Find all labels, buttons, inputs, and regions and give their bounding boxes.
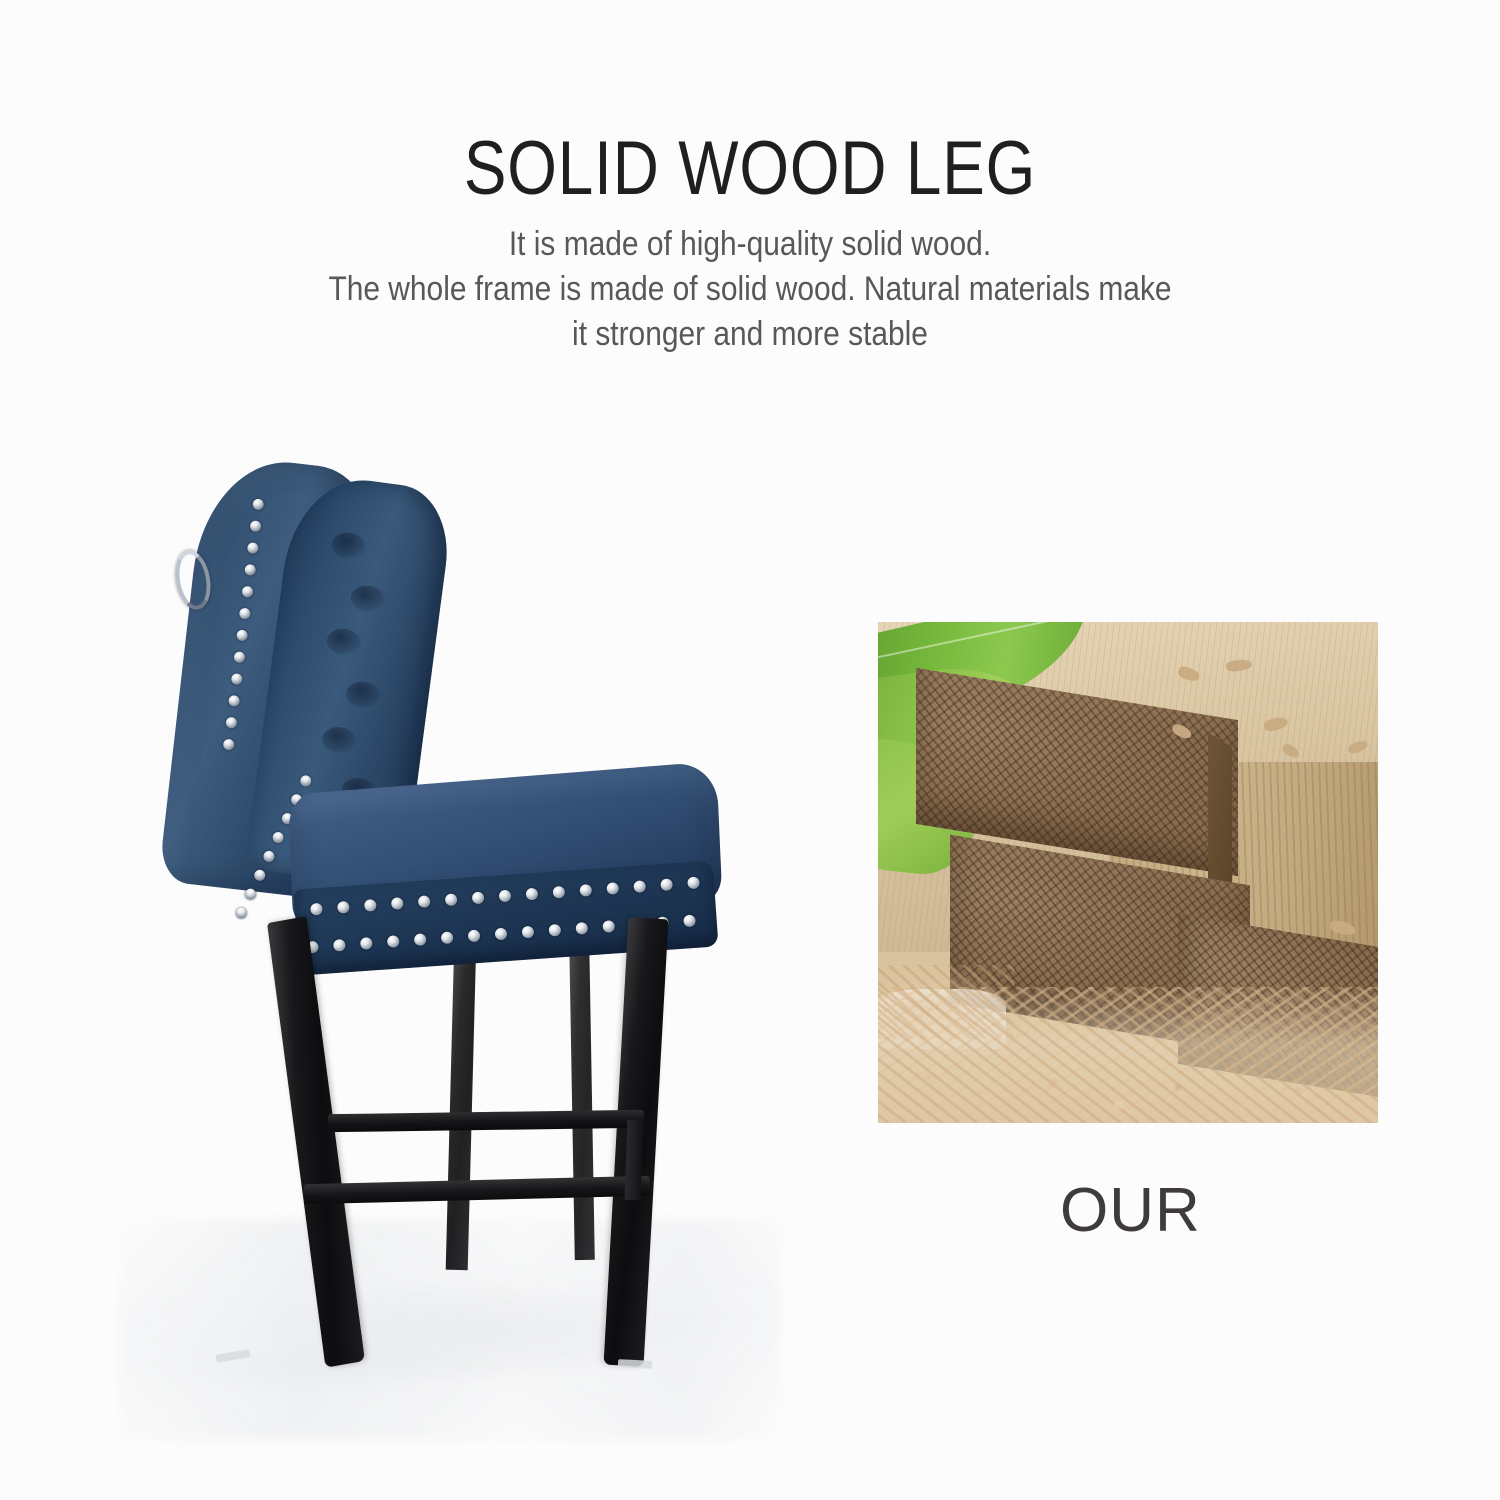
- nailhead-stud: [231, 673, 243, 685]
- foot-glide: [618, 1359, 652, 1369]
- nailhead-stud: [234, 906, 249, 921]
- subtitle-line-2: The whole frame is made of solid wood. N…: [90, 267, 1410, 312]
- subtitle-line-3: it stronger and more stable: [90, 312, 1410, 357]
- our-label: OUR: [1060, 1176, 1201, 1246]
- nailhead-stud: [252, 498, 264, 510]
- nailhead-stud: [579, 884, 592, 897]
- nailhead-stud: [236, 629, 248, 641]
- nailhead-stud: [225, 717, 237, 729]
- tuft-dimple: [330, 531, 367, 561]
- nailhead-stud: [310, 903, 323, 916]
- nailhead-stud: [247, 542, 259, 554]
- nailhead-stud: [391, 897, 404, 910]
- nailhead-stud: [552, 886, 565, 899]
- nailhead-stud: [364, 899, 377, 912]
- nailhead-stud: [687, 876, 700, 889]
- subtitle-block: It is made of high-quality solid wood. T…: [90, 222, 1410, 357]
- nailhead-stud: [683, 914, 696, 927]
- nailhead-stud: [499, 890, 512, 903]
- nailhead-stud: [228, 695, 240, 707]
- header-text-block: SOLID WOOD LEG It is made of high-qualit…: [0, 128, 1500, 357]
- nailhead-stud: [548, 924, 561, 937]
- nailhead-stud: [337, 901, 350, 914]
- subtitle-line-1: It is made of high-quality solid wood.: [90, 222, 1410, 267]
- nailhead-stud: [606, 882, 619, 895]
- nailhead-stud: [387, 935, 400, 948]
- nailhead-stud: [333, 939, 346, 952]
- nailhead-stud: [472, 891, 485, 904]
- nailhead-stud: [239, 607, 251, 619]
- chair-product-photo: [120, 420, 780, 1440]
- tuft-dimple: [325, 627, 362, 657]
- page-title: SOLID WOOD LEG: [120, 128, 1380, 210]
- end-grain-block-top-edge: [1208, 733, 1232, 897]
- chair-leg-far-front: [569, 940, 595, 1260]
- nailhead-stud: [441, 931, 454, 944]
- nailhead-stud: [241, 586, 253, 598]
- nailhead-stud: [633, 880, 646, 893]
- nailhead-stud: [602, 920, 615, 933]
- nailhead-stud: [660, 878, 673, 891]
- nailhead-stud: [249, 520, 261, 532]
- nailhead-stud: [522, 926, 535, 939]
- nailhead-stud: [468, 929, 481, 942]
- tuft-dimple: [321, 725, 358, 755]
- chair-stretcher-upper: [328, 1110, 644, 1132]
- chair-stretcher-side: [625, 1120, 644, 1201]
- nailhead-stud: [414, 933, 427, 946]
- product-feature-page: SOLID WOOD LEG It is made of high-qualit…: [0, 0, 1500, 1500]
- nailhead-stud: [223, 738, 235, 750]
- solid-wood-material-photo: [878, 622, 1378, 1123]
- wood-shavings-pile: [878, 987, 1378, 1123]
- nailhead-stud: [360, 937, 373, 950]
- nailhead-stud: [495, 928, 508, 941]
- nailhead-stud: [575, 922, 588, 935]
- nailhead-stud: [526, 888, 539, 901]
- nailhead-stud: [244, 564, 256, 576]
- tuft-dimple: [349, 584, 386, 614]
- nailhead-stud: [445, 893, 458, 906]
- nailhead-stud: [418, 895, 431, 908]
- nailhead-stud: [233, 651, 245, 663]
- tuft-dimple: [345, 680, 382, 710]
